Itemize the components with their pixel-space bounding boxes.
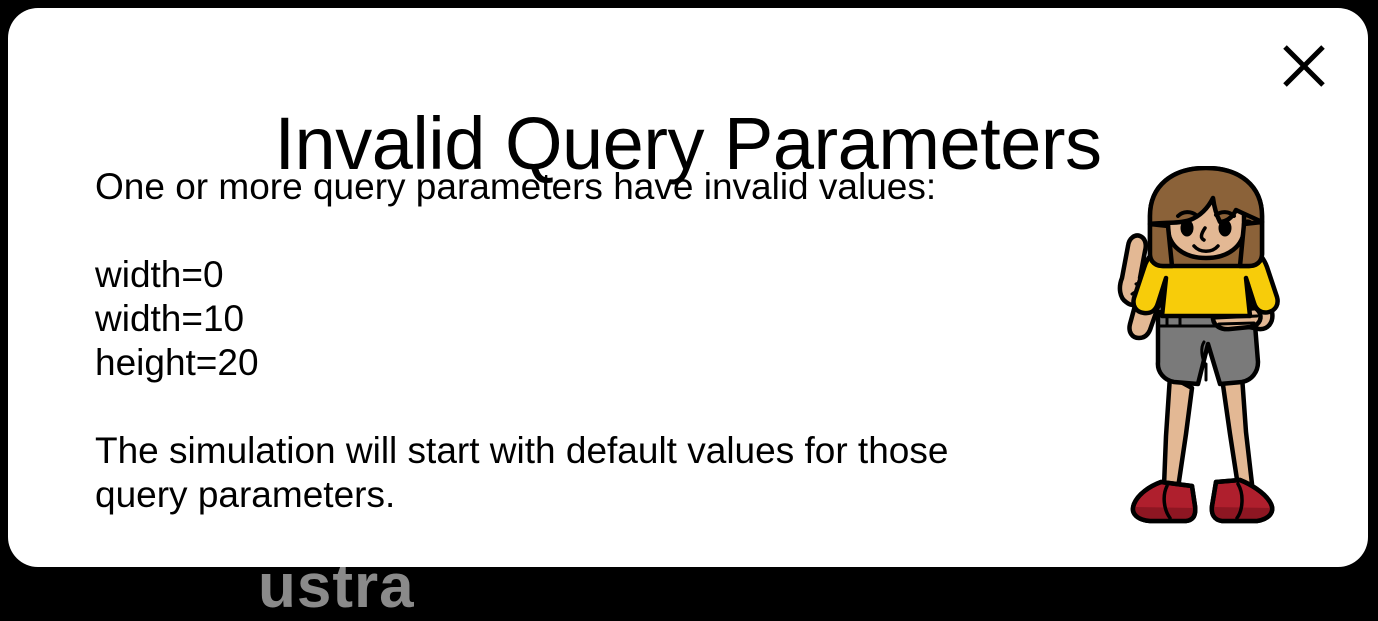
close-icon	[1281, 43, 1327, 89]
invalid-query-parameters-dialog: Invalid Query Parameters One or more que…	[8, 8, 1368, 567]
outro-line-2: query parameters.	[95, 473, 1085, 517]
list-item: width=0	[95, 253, 1085, 297]
invalid-parameter-list: width=0 width=10 height=20	[95, 253, 1085, 385]
close-button[interactable]	[1273, 35, 1335, 97]
spacer	[95, 385, 1085, 429]
intro-text: One or more query parameters have invali…	[95, 165, 1085, 209]
outro-line-1: The simulation will start with default v…	[95, 429, 1085, 473]
dialog-body: One or more query parameters have invali…	[95, 165, 1085, 517]
list-item: height=20	[95, 341, 1085, 385]
spacer	[95, 209, 1085, 253]
outro-text: The simulation will start with default v…	[95, 429, 1085, 517]
girl-pointing-up-illustration	[1104, 166, 1304, 536]
list-item: width=10	[95, 297, 1085, 341]
